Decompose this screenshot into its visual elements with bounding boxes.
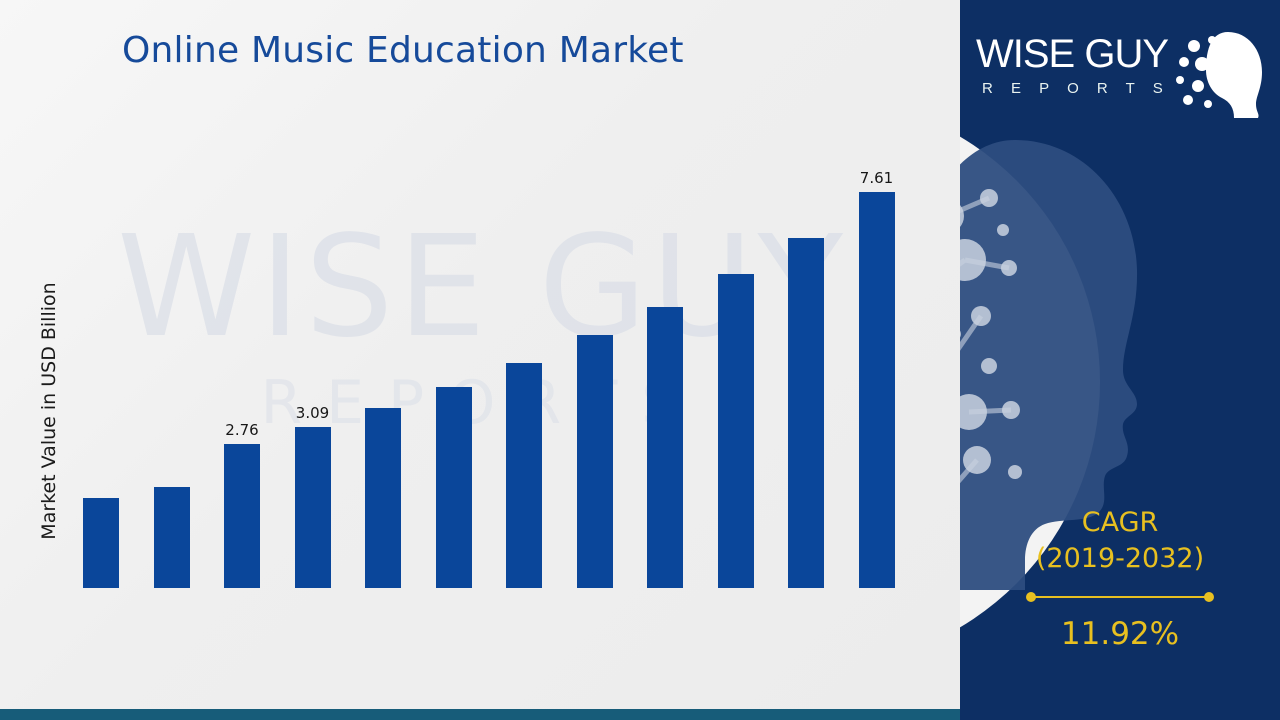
bar-2026[interactable]: [436, 387, 472, 588]
brand-logo: WISE GUY R E P O R T S: [974, 28, 1266, 120]
bar-2024[interactable]: [295, 427, 331, 588]
brand-panel: WISE GUY R E P O R T S CAGR (2019-2032): [960, 0, 1280, 720]
bar-slot: 3.092024: [295, 140, 331, 588]
cagr-title: CAGR: [960, 505, 1280, 541]
divider-dot-right: [1204, 592, 1214, 602]
bar-slot: 2028: [577, 140, 613, 588]
cagr-value: 11.92%: [960, 616, 1280, 652]
y-axis-label: Market Value in USD Billion: [38, 246, 60, 576]
bar-slot: 2025: [365, 140, 401, 588]
bar-2030[interactable]: [718, 274, 754, 588]
bar-slot: 2018: [83, 140, 119, 588]
page-title: Online Music Education Market: [122, 30, 684, 71]
logo-subtitle: R E P O R T S: [982, 80, 1192, 97]
infographic-canvas: Online Music Education Market WISE GUY R…: [0, 0, 1280, 720]
divider-line: [1031, 596, 1209, 598]
cagr-range: (2019-2032): [960, 541, 1280, 577]
logo-wordmark: WISE GUY: [976, 32, 1196, 77]
bar-2025[interactable]: [365, 408, 401, 588]
bar-slot: 2031: [788, 140, 824, 588]
bar-value-label-2024: 3.09: [273, 404, 353, 422]
cagr-divider: [1026, 592, 1214, 602]
cagr-block: CAGR (2019-2032) 11.92%: [960, 505, 1280, 652]
bar-2032[interactable]: [859, 192, 895, 588]
bar-2023[interactable]: [224, 444, 260, 588]
bar-slot: 2.762023: [224, 140, 260, 588]
bar-2028[interactable]: [577, 335, 613, 588]
bar-slot: 2027: [506, 140, 542, 588]
bar-2031[interactable]: [788, 238, 824, 588]
head-profile-icon: [1172, 28, 1268, 120]
bar-value-label-2032: 7.61: [837, 169, 917, 187]
bar-slot: 2026: [436, 140, 472, 588]
bar-slot: 2030: [718, 140, 754, 588]
bar-chart-plot: 201820192.7620233.0920242025202620272028…: [75, 140, 895, 588]
bottom-accent-strip: [0, 709, 962, 720]
bar-slot: 2019: [154, 140, 190, 588]
bar-2029[interactable]: [647, 307, 683, 588]
bar-2019[interactable]: [154, 487, 190, 588]
bar-value-label-2023: 2.76: [202, 421, 282, 439]
bar-slot: 7.612032: [859, 140, 895, 588]
bar-slot: 2029: [647, 140, 683, 588]
bar-2018[interactable]: [83, 498, 119, 588]
bar-2027[interactable]: [506, 363, 542, 588]
chart-area: Online Music Education Market WISE GUY R…: [0, 0, 962, 720]
